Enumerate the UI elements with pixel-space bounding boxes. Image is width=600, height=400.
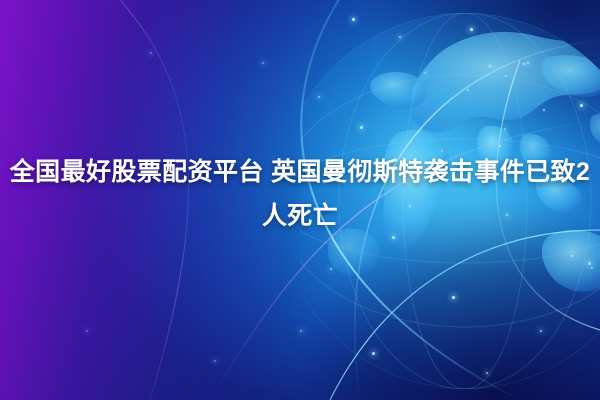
- news-thumbnail-image: 全国最好股票配资平台 英国曼彻斯特袭击事件已致2人死亡: [0, 0, 600, 400]
- headline-text: 全国最好股票配资平台 英国曼彻斯特袭击事件已致2人死亡: [0, 150, 600, 238]
